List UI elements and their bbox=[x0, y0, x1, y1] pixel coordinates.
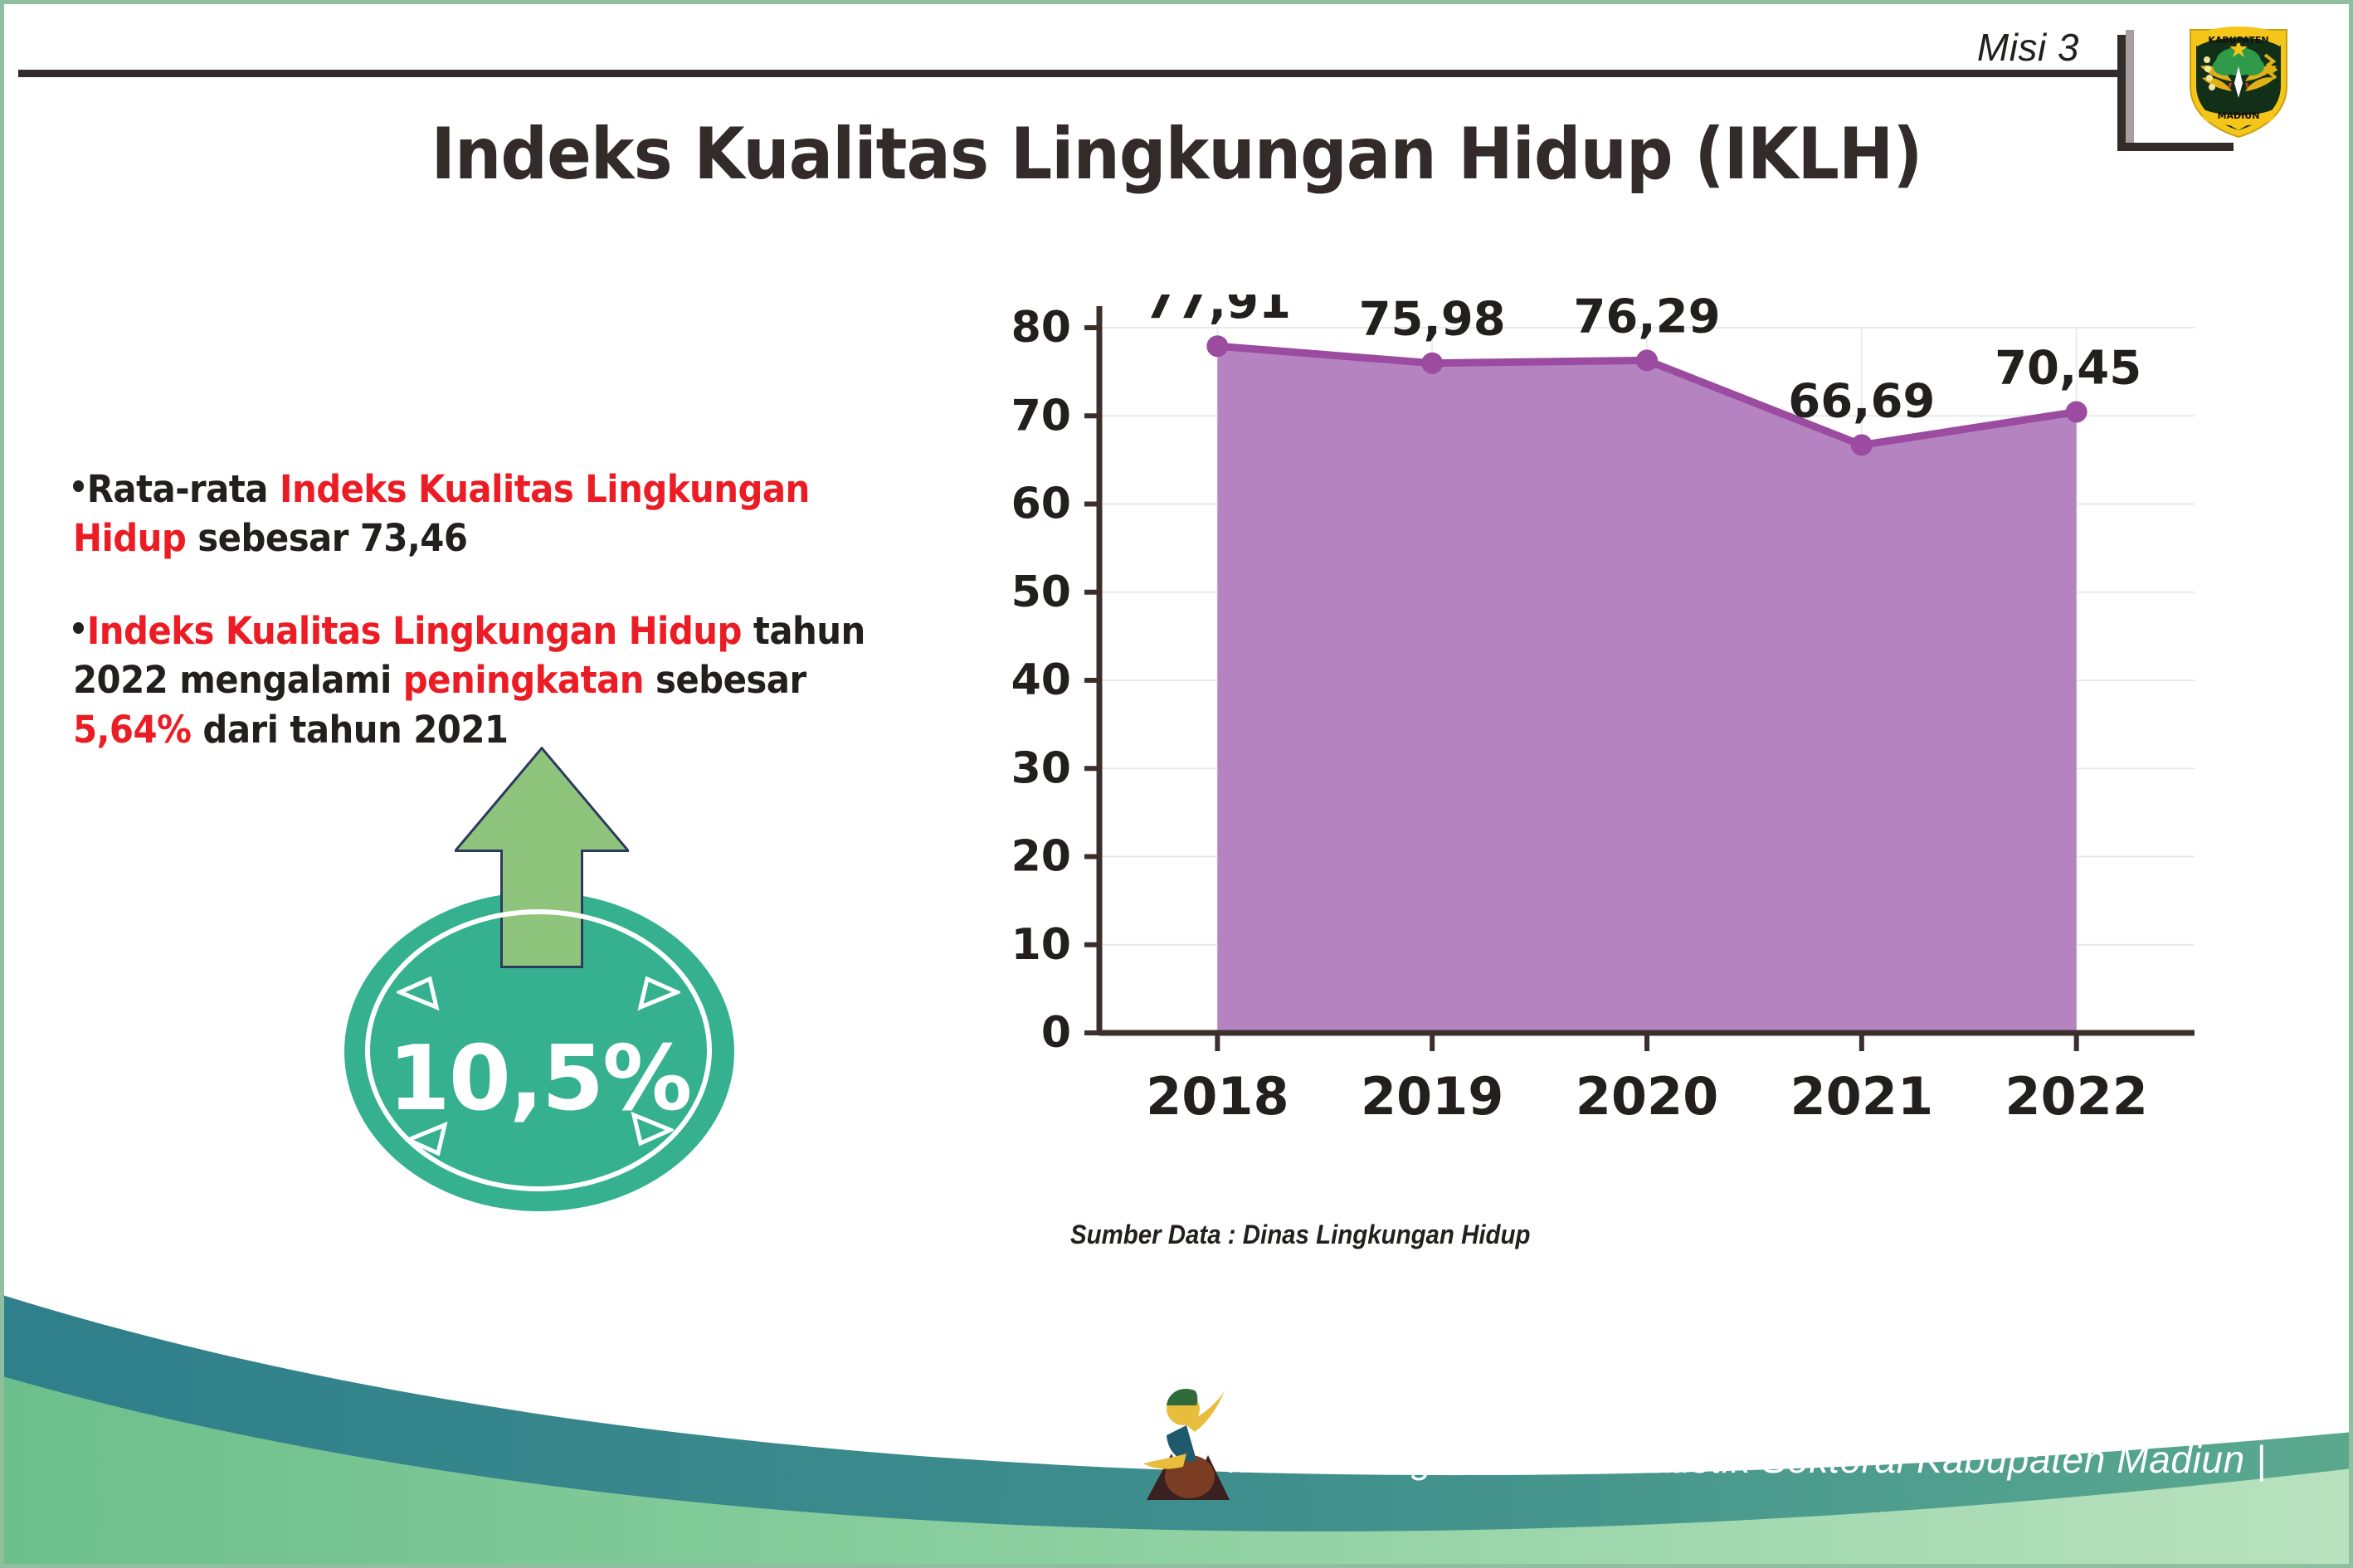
data-label: 70,45 bbox=[1995, 341, 2141, 395]
bullet-run: sebesar bbox=[644, 658, 806, 702]
data-point bbox=[1636, 349, 1658, 371]
badge-tick-bottom-right-icon bbox=[631, 1112, 674, 1147]
bullet-run: Rata-rata bbox=[87, 467, 280, 511]
page-title: Indeks Kualitas Lingkungan Hidup (IKLH) bbox=[94, 113, 2258, 196]
y-tick-label: 10 bbox=[1011, 920, 1071, 970]
x-tick-label: 2018 bbox=[1146, 1066, 1289, 1127]
data-point bbox=[1421, 353, 1443, 374]
data-label: 66,69 bbox=[1788, 374, 1935, 428]
bullet-run: sebesar 73,46 bbox=[186, 516, 467, 560]
data-label: 76,29 bbox=[1573, 295, 1720, 343]
data-point bbox=[1206, 335, 1228, 357]
misi-label: Misi 3 bbox=[1977, 25, 2079, 70]
bullet-run: Indeks Kualitas Lingkungan Hidup bbox=[87, 609, 742, 653]
bullet-run: 5,64% bbox=[73, 708, 191, 752]
y-tick-label: 50 bbox=[1011, 567, 1071, 617]
y-tick-label: 20 bbox=[1011, 832, 1071, 882]
bullet-text-0: Rata-rata Indeks Kualitas Lingkungan Hid… bbox=[73, 467, 810, 560]
x-tick-label: 2022 bbox=[2005, 1066, 2148, 1127]
bullet-run: peningkatan bbox=[403, 658, 644, 702]
footer-text: Media Infografis Data Statistik Sektoral… bbox=[1228, 1437, 2267, 1482]
badge-percent-label: 10,5% bbox=[332, 1027, 747, 1131]
bullet-text-1: Indeks Kualitas Lingkungan Hidup tahun 2… bbox=[73, 609, 865, 752]
list-item: Rata-rata Indeks Kualitas Lingkungan Hid… bbox=[73, 465, 884, 563]
data-point bbox=[1851, 434, 1873, 455]
data-label: 75,98 bbox=[1359, 295, 1506, 347]
y-tick-label: 70 bbox=[1011, 391, 1071, 441]
increase-badge: 10,5% bbox=[332, 747, 747, 1211]
data-point bbox=[2066, 401, 2087, 422]
iklh-area-chart: 010203040506070802018201920202021202277,… bbox=[967, 295, 2195, 1191]
mascot-icon bbox=[1138, 1377, 1238, 1510]
footer-banner: Media Infografis Data Statistik Sektoral… bbox=[0, 1269, 2353, 1568]
y-tick-label: 40 bbox=[1011, 655, 1071, 705]
area-fill bbox=[1217, 346, 2076, 1033]
chart-source-caption: Sumber Data : Dinas Lingkungan Hidup bbox=[1070, 1220, 1530, 1250]
badge-tick-top-right-icon bbox=[637, 976, 680, 1010]
y-tick-label: 0 bbox=[1041, 1008, 1071, 1058]
bullet-list: Rata-rata Indeks Kualitas Lingkungan Hid… bbox=[73, 465, 944, 754]
bullet-run: dari tahun 2021 bbox=[191, 708, 508, 752]
badge-tick-top-left-icon bbox=[397, 976, 440, 1010]
crest-top-text: KABUPATEN bbox=[2208, 35, 2268, 46]
badge-tick-bottom-left-icon bbox=[405, 1122, 448, 1157]
bullet-dot-icon bbox=[73, 622, 84, 634]
data-label: 77,91 bbox=[1144, 295, 1291, 329]
header-rule bbox=[18, 70, 2117, 77]
list-item: Indeks Kualitas Lingkungan Hidup tahun 2… bbox=[73, 606, 884, 754]
x-tick-label: 2021 bbox=[1790, 1066, 1934, 1127]
x-tick-label: 2019 bbox=[1361, 1066, 1504, 1127]
x-tick-label: 2020 bbox=[1576, 1066, 1719, 1127]
y-tick-label: 80 bbox=[1011, 303, 1071, 353]
y-tick-label: 60 bbox=[1011, 480, 1071, 529]
bullet-dot-icon bbox=[73, 480, 84, 492]
y-tick-label: 30 bbox=[1011, 743, 1071, 793]
